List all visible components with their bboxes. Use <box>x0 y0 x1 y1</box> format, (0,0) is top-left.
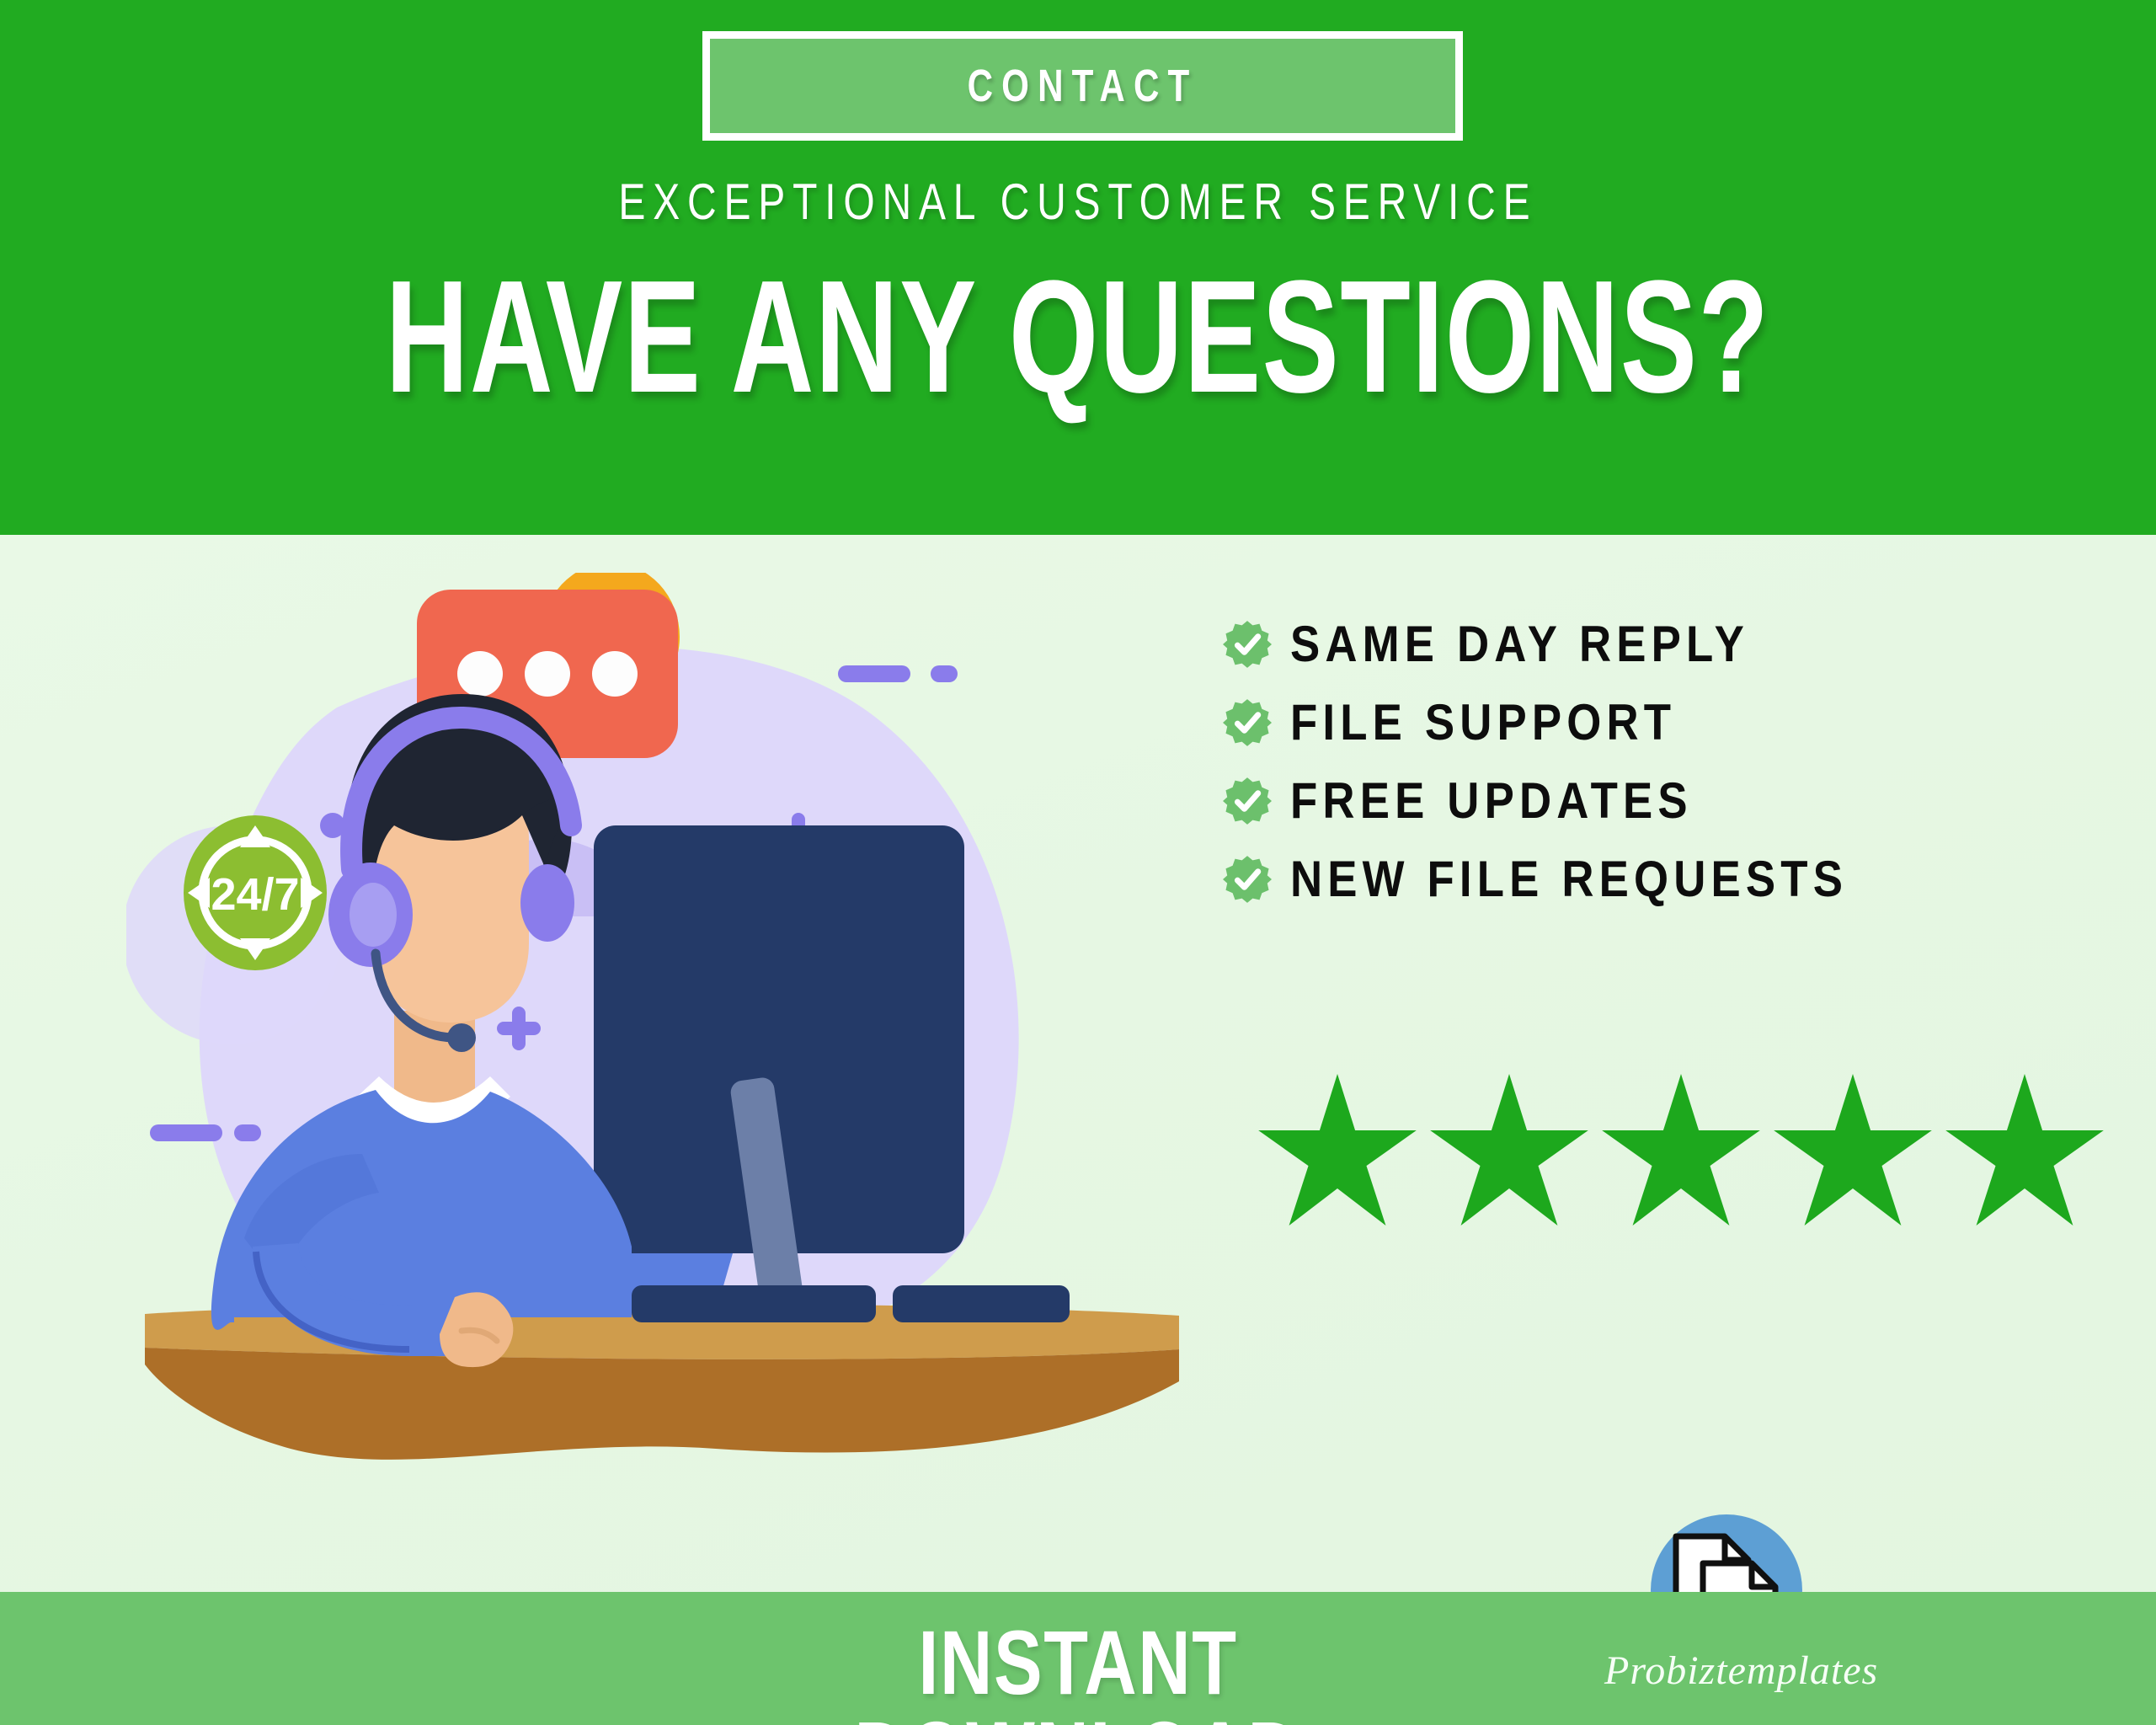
star-rating <box>1255 1074 2107 1226</box>
feature-item-label: FREE UPDATES <box>1290 772 1748 830</box>
page-title: HAVE ANY QUESTIONS? <box>0 257 2156 417</box>
feature-item: FILE SUPPORT <box>1223 683 1924 761</box>
instant-download-label: INSTANT DOWNLOAD <box>598 1617 1558 1725</box>
deco-dash-3 <box>150 1124 222 1141</box>
header-banner: CONTACT EXCEPTIONAL CUSTOMER SERVICE HAV… <box>0 0 2156 535</box>
contact-badge: CONTACT <box>702 31 1463 141</box>
features-list: SAME DAY REPLY FILE SUPPORT <box>1223 605 1924 918</box>
star-icon <box>1598 1074 1764 1226</box>
star-icon <box>1255 1074 1420 1226</box>
contact-badge-label: CONTACT <box>792 39 1373 133</box>
feature-item-label: FILE SUPPORT <box>1290 693 1729 751</box>
feature-item: SAME DAY REPLY <box>1223 605 1924 683</box>
check-badge-icon <box>1223 855 1272 904</box>
check-badge-icon <box>1223 777 1272 825</box>
instant-download-text: INSTANT DOWNLOAD <box>694 1617 1462 1725</box>
feature-item: FREE UPDATES <box>1223 761 1924 840</box>
check-badge-icon <box>1223 698 1272 747</box>
header-subtitle: EXCEPTIONAL CUSTOMER SERVICE <box>0 173 2156 231</box>
feature-item-label: SAME DAY REPLY <box>1290 615 1812 673</box>
header-subtitle-text: EXCEPTIONAL CUSTOMER SERVICE <box>618 173 1537 231</box>
deco-dash-4 <box>234 1124 261 1141</box>
badge-247-text: 24/7 <box>211 869 299 920</box>
poster-canvas: CONTACT EXCEPTIONAL CUSTOMER SERVICE HAV… <box>0 0 2156 1725</box>
feature-item-label: NEW FILE REQUESTS <box>1290 850 1924 908</box>
star-icon <box>1770 1074 1935 1226</box>
badge-247: 24/7 <box>184 815 327 970</box>
brand-name: Probiztemplates <box>1604 1648 1857 1694</box>
star-icon <box>1427 1074 1592 1226</box>
check-badge-icon <box>1223 620 1272 669</box>
star-icon <box>1942 1074 2107 1226</box>
customer-support-illustration: 24/7 <box>126 573 1213 1516</box>
page-title-text: HAVE ANY QUESTIONS? <box>386 257 1770 417</box>
deco-dash-2 <box>931 665 958 682</box>
deco-dash-1 <box>838 665 910 682</box>
feature-item: NEW FILE REQUESTS <box>1223 840 1924 918</box>
